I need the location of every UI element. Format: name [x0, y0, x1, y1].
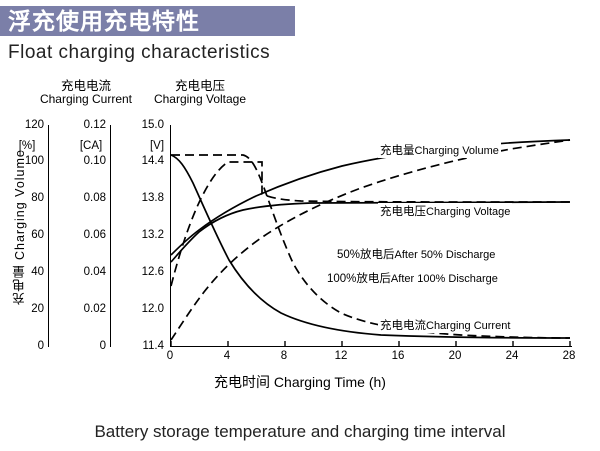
annotation-after-100-discharge-en: After 100% Discharge [391, 273, 498, 285]
ytick-current-006: 0.06 [60, 229, 106, 241]
yaxis-spine-current [110, 125, 111, 347]
xtick-20: 20 [445, 350, 465, 362]
annotation-charging-current: 充电电流Charging Current [378, 317, 512, 333]
axis-header-charging-voltage-en: Charging Voltage [140, 93, 260, 106]
ytick-voltage-150: 15.0 [124, 119, 164, 131]
ytick-voltage-120: 12.0 [124, 303, 164, 315]
ytick-current-008: 0.08 [60, 192, 106, 204]
page-title-cn: 浮充使用充电特性 [8, 8, 200, 34]
ytick-current-002: 0.02 [60, 303, 106, 315]
ytick-volume-80: 80 [8, 192, 44, 204]
yaxis-spine-volume [48, 125, 49, 347]
annotation-after-100-discharge-cn: 100%放电后 [327, 273, 391, 285]
ytick-volume-60: 60 [8, 229, 44, 241]
annotation-charging-current-cn: 充电电流 [380, 320, 426, 332]
xaxis-title: 充电时间 Charging Time (h) [0, 372, 600, 392]
annotation-charging-voltage: 充电电压Charging Voltage [378, 203, 512, 219]
axis-header-charging-voltage: 充电电压 Charging Voltage [140, 80, 260, 106]
annotation-after-100-discharge: 100%放电后After 100% Discharge [325, 270, 500, 286]
annotation-charging-volume-cn: 充电量 [380, 145, 415, 157]
xtick-24: 24 [502, 350, 522, 362]
ytick-voltage-126: 12.6 [124, 266, 164, 278]
xtick-0: 0 [160, 350, 180, 362]
ytick-volume-20: 20 [8, 303, 44, 315]
ytick-voltage-132: 13.2 [124, 229, 164, 241]
annotation-charging-voltage-cn: 充电电压 [380, 206, 426, 218]
page-title-en: Float charging characteristics [8, 42, 270, 64]
unit-charging-current: [CA] [74, 140, 108, 152]
ytick-current-012: 0.12 [60, 119, 106, 131]
axis-header-charging-current-en: Charging Current [30, 93, 142, 106]
axis-header-charging-current: 充电电流 Charging Current [30, 80, 142, 106]
ytick-volume-100: 100 [8, 155, 44, 167]
ytick-volume-120: 120 [8, 119, 44, 131]
curve-volume-100 [171, 140, 570, 340]
xtick-16: 16 [388, 350, 408, 362]
curve-volume-50 [171, 140, 570, 255]
ytick-current-004: 0.04 [60, 266, 106, 278]
annotation-charging-voltage-en: Charging Voltage [426, 206, 510, 218]
unit-charging-voltage: [V] [140, 140, 174, 152]
ytick-volume-0: 0 [8, 340, 44, 352]
curves-svg [171, 125, 573, 347]
annotation-charging-current-en: Charging Current [426, 320, 510, 332]
curve-voltage-100 [171, 162, 570, 286]
annotation-after-50-discharge: 50%放电后After 50% Discharge [335, 246, 497, 262]
annotation-after-50-discharge-en: After 50% Discharge [395, 249, 496, 261]
annotation-after-50-discharge-cn: 50%放电后 [337, 249, 395, 261]
ytick-current-0: 0 [60, 340, 106, 352]
annotation-charging-volume: 充电量Charging Volume [378, 142, 501, 158]
annotation-charging-volume-en: Charging Volume [415, 145, 499, 157]
chart-area: 充电电流 Charging Current 充电电压 Charging Volt… [0, 80, 600, 410]
xtick-4: 4 [217, 350, 237, 362]
xtick-8: 8 [274, 350, 294, 362]
ytick-voltage-144: 14.4 [124, 155, 164, 167]
ytick-current-010: 0.10 [60, 155, 106, 167]
ytick-volume-40: 40 [8, 266, 44, 278]
plot-box [170, 125, 572, 347]
figure-caption: Battery storage temperature and charging… [0, 422, 600, 442]
ytick-voltage-114: 11.4 [124, 340, 164, 352]
ytick-voltage-138: 13.8 [124, 192, 164, 204]
xtick-12: 12 [331, 350, 351, 362]
xtick-28: 28 [559, 350, 579, 362]
